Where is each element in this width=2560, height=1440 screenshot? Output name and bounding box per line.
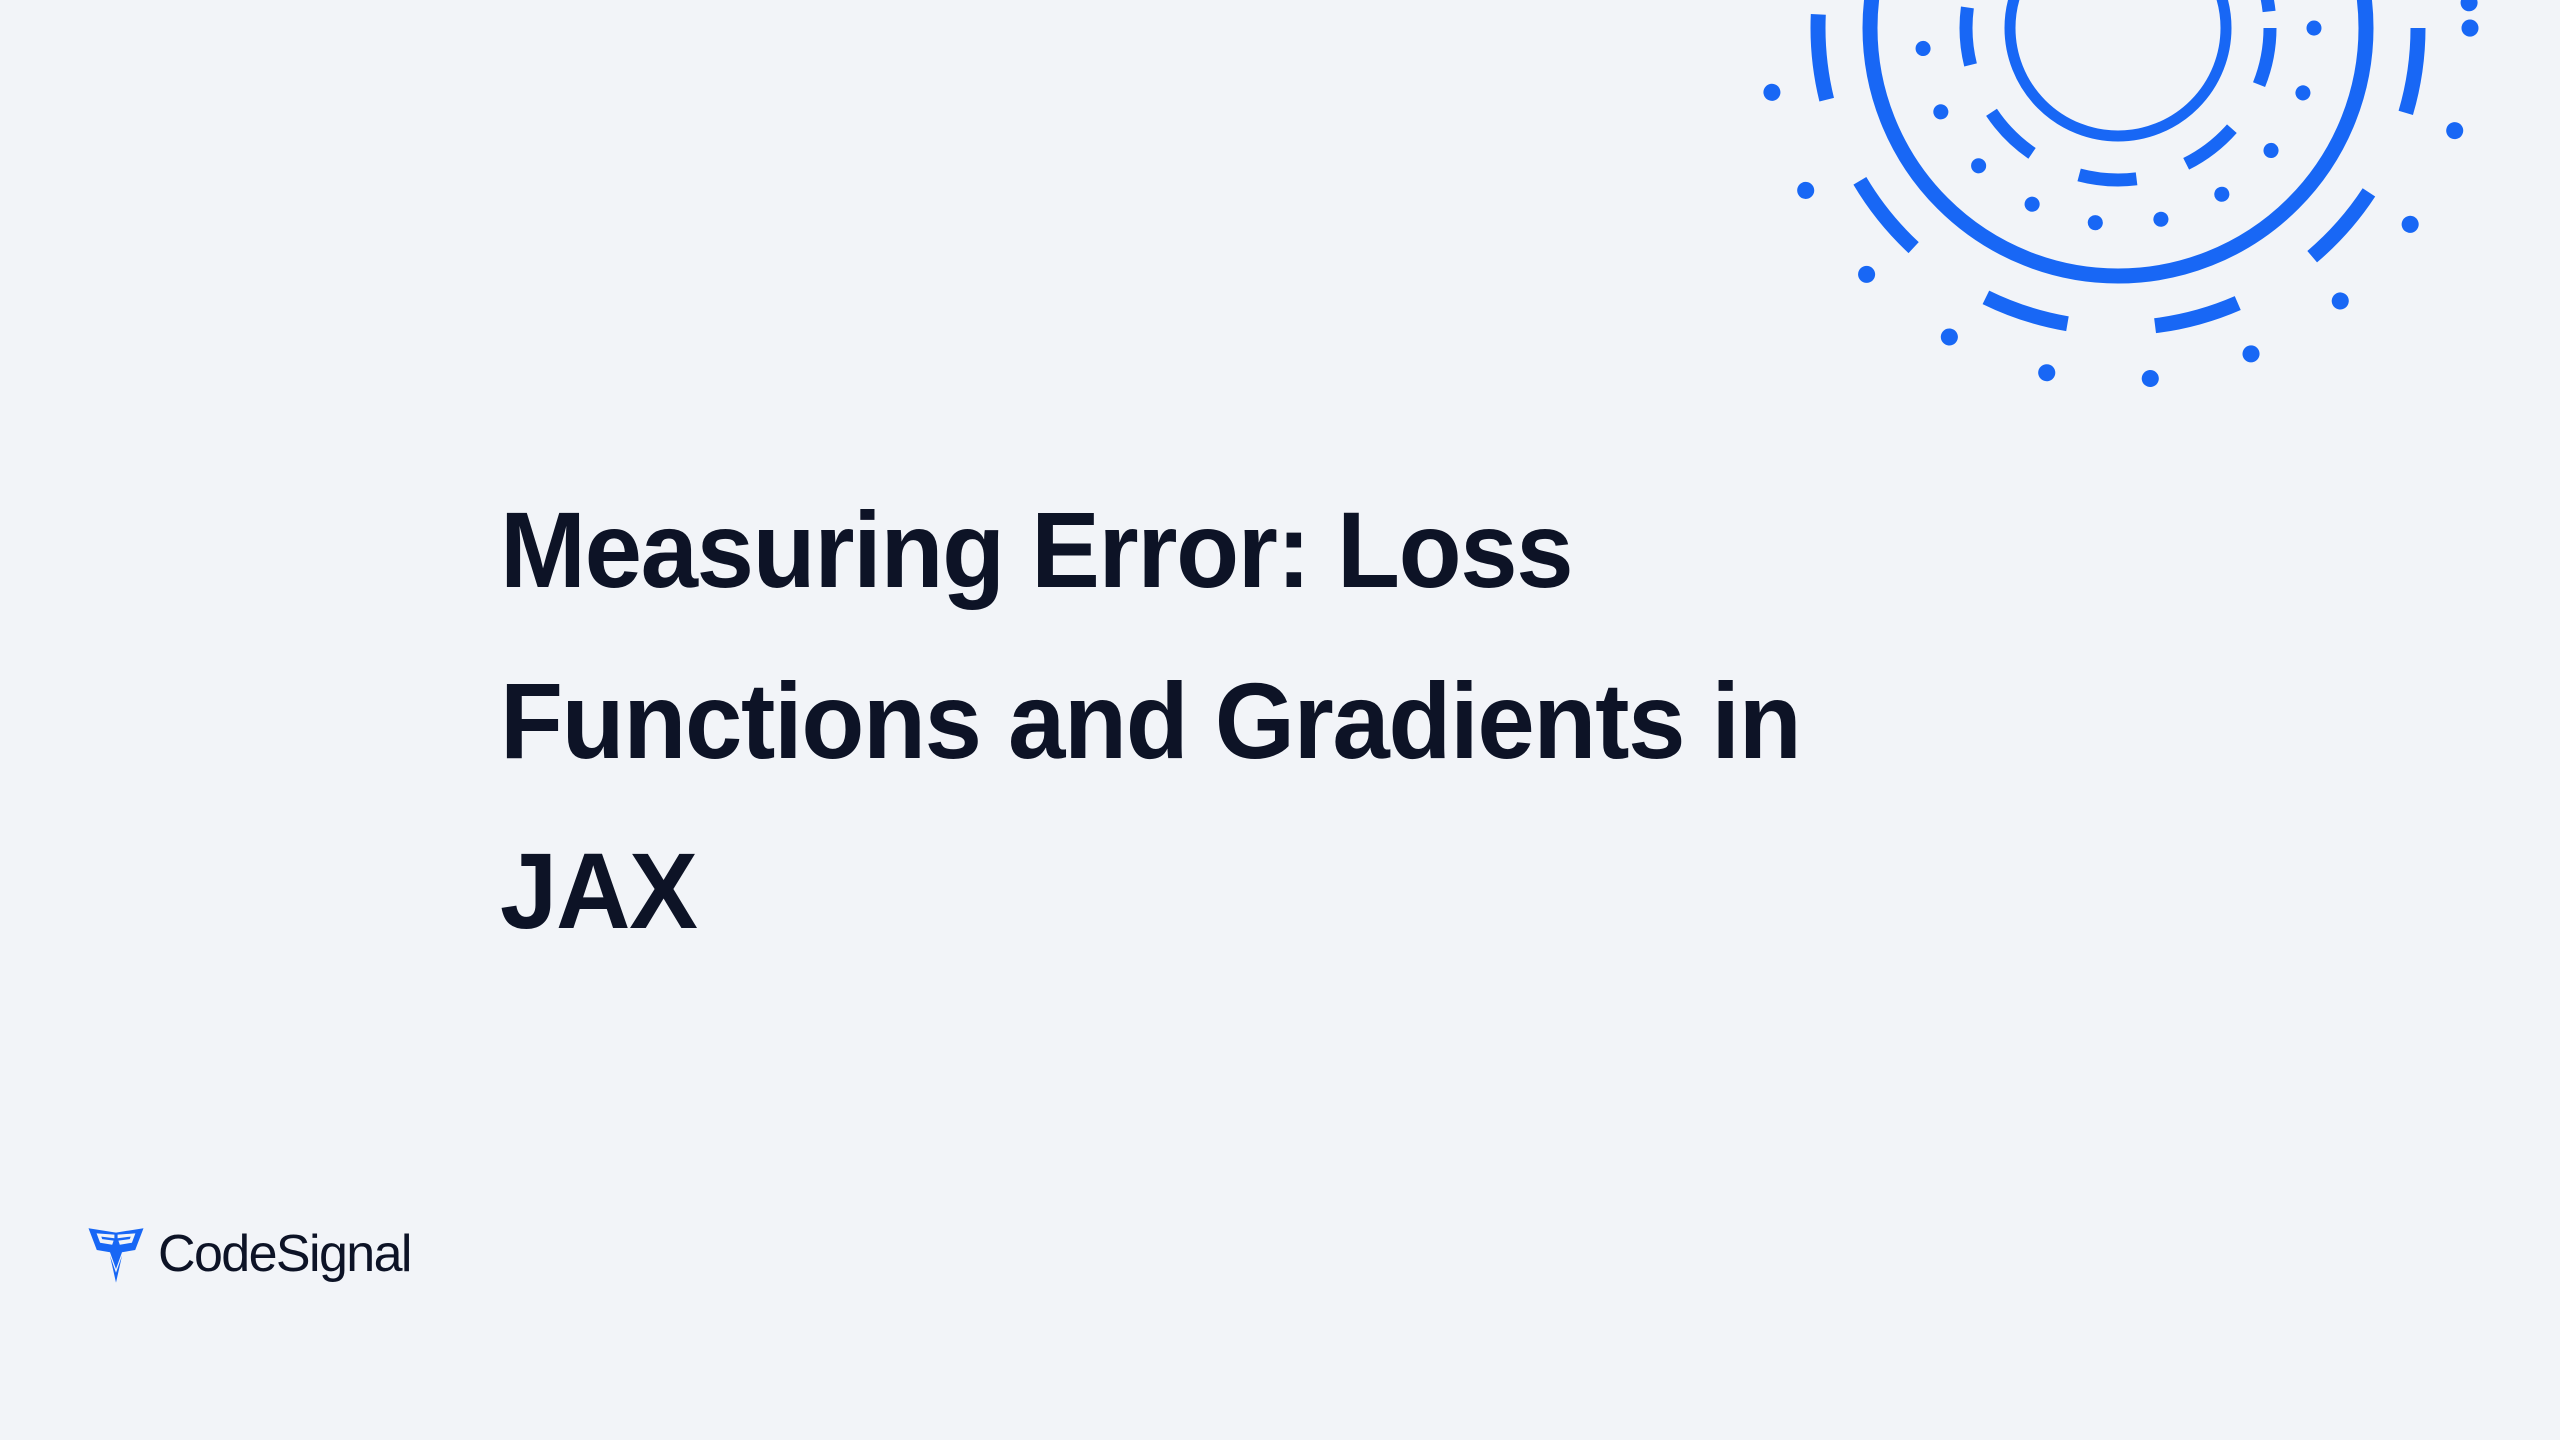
page-title: Measuring Error: Loss Functions and Grad… — [500, 465, 1990, 977]
ring-dashed-outer — [1818, 0, 2418, 328]
ring-solid-mid — [1870, 0, 2366, 276]
codesignal-mark-icon — [88, 1224, 144, 1284]
ring-dotted-inner — [1922, 0, 2314, 224]
title-block: Measuring Error: Loss Functions and Grad… — [500, 465, 2060, 977]
ring-solid-inner — [2010, 0, 2226, 136]
codesignal-logo: CodeSignal — [88, 1224, 411, 1284]
codesignal-wordmark: CodeSignal — [158, 1228, 411, 1280]
ring-dotted-outer — [1766, 0, 2470, 380]
ring-dashed-inner — [1966, 0, 2270, 180]
lesson-title-slide: Measuring Error: Loss Functions and Grad… — [0, 0, 2560, 1440]
